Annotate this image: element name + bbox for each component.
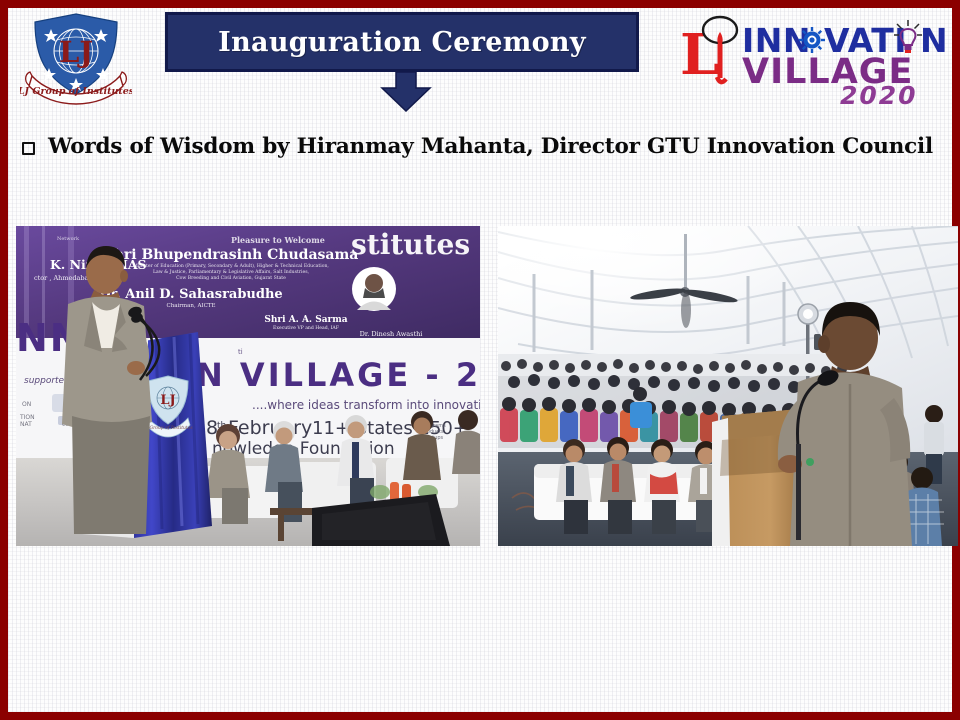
svg-text:LJ Group of Institutes: LJ Group of Institutes: [142, 425, 193, 431]
innovation-village-logo: L INN: [676, 8, 960, 108]
hollow-square-bullet-icon: [22, 142, 35, 155]
svg-text:NAT: NAT: [20, 421, 32, 428]
svg-text:Shri A. A. Sarma: Shri A. A. Sarma: [264, 315, 347, 325]
down-arrow-icon: [374, 72, 438, 112]
svg-text:Network: Network: [57, 236, 80, 242]
svg-text:Cow Breeding and Civil Aviatio: Cow Breeding and Civil Aviation, Gujarat…: [176, 275, 286, 281]
page-title: Inauguration Ceremony: [218, 27, 586, 58]
photo-speaker-podium-stage: Network K. Nirala, IAS ctor , Ahmedabad …: [16, 226, 480, 546]
bullet-row: Words of Wisdom by Hiranmay Mahanta, Dir…: [22, 134, 952, 159]
svg-text:Minister of Education (Primary: Minister of Education (Primary, Secondar…: [133, 262, 329, 269]
photo-speaker-rear-crowd: [498, 226, 958, 546]
title-banner: Inauguration Ceremony: [165, 12, 639, 72]
svg-text:stitutes: stitutes: [351, 228, 470, 261]
lj-group-logo: LJ LJ Group of Institutes: [20, 10, 132, 114]
svg-text:Chairman, AICTE: Chairman, AICTE: [167, 303, 216, 309]
svg-text:....where ideas transform into: ....where ideas transform into innovatio…: [252, 398, 480, 412]
svg-text:ctor , Ahmedabad: ctor , Ahmedabad: [34, 274, 93, 282]
lj-ribbon-text: LJ Group of Institutes: [20, 86, 132, 97]
svg-text:N VILLAGE - 2020: N VILLAGE - 2020: [196, 356, 480, 394]
lj-mark: L: [680, 22, 719, 88]
svg-text:Executive VP and Head, IAF: Executive VP and Head, IAF: [273, 325, 339, 331]
svg-text:ON: ON: [22, 401, 31, 408]
svg-text:Law & Justice, Parliamentary &: Law & Justice, Parliamentary & Legislati…: [153, 269, 310, 275]
slide-canvas: LJ LJ Group of Institutes Inauguration C…: [0, 0, 960, 720]
svg-text:2020: 2020: [840, 81, 918, 108]
svg-text:TION: TION: [19, 414, 35, 421]
svg-text:LJ: LJ: [59, 35, 93, 69]
svg-text:Dr. Dinesh Awasthi: Dr. Dinesh Awasthi: [360, 330, 423, 338]
svg-text:N: N: [920, 21, 948, 60]
svg-text:Shri Bhupendrasinh Chudasama: Shri Bhupendrasinh Chudasama: [104, 247, 359, 263]
sun-gear-icon: [799, 27, 825, 53]
svg-text:February: February: [228, 417, 312, 439]
svg-text:ti: ti: [238, 348, 243, 356]
bullet-text: Words of Wisdom by Hiranmay Mahanta, Dir…: [48, 134, 933, 159]
svg-text:Pleasure to Welcome: Pleasure to Welcome: [231, 235, 325, 245]
svg-text:LJ: LJ: [160, 393, 175, 408]
